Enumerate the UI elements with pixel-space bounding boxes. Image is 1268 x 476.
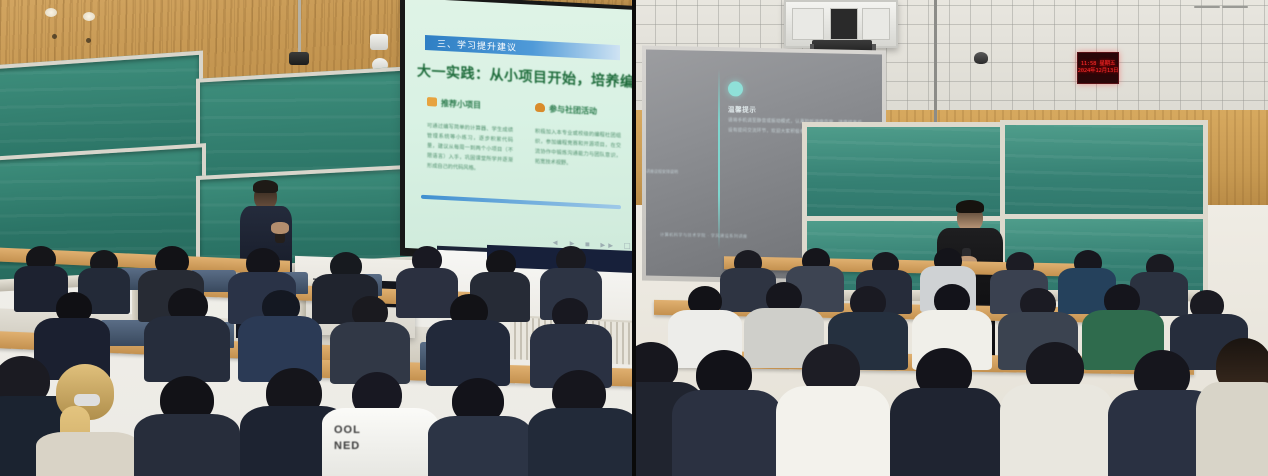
left-photo: 三、学习提升建议 大一实践：从小项目开始，培养编程思维 推荐小项目 可通过编写简… [0, 0, 634, 476]
audience-body [672, 390, 782, 476]
audience-body [144, 316, 230, 382]
ceiling-fan [1194, 2, 1250, 12]
people-icon [535, 103, 545, 113]
led-line-2: 2024年12月13日 [1078, 68, 1119, 75]
hoodie-text-line-1: OOL [334, 424, 361, 436]
speaker-hair [956, 200, 984, 213]
panel-screw [52, 34, 57, 39]
led-date-time-display: 11:58 星期五 2024年12月13日 [1077, 52, 1119, 84]
slide-section-label: 三、学习提升建议 [437, 37, 517, 54]
projection-screen: 三、学习提升建议 大一实践：从小项目开始，培养编程思维 推荐小项目 可通过编写简… [405, 0, 634, 260]
audience-body [36, 432, 140, 476]
slide-column: 推荐小项目 可通过编写简单的计算器、学生成绩管理系统等小练习，逐步积累代码量，建… [427, 97, 513, 176]
speaker-hair [253, 180, 278, 193]
speaker-hand [271, 222, 289, 234]
cage-panel [792, 8, 824, 40]
hoodie-text-line-2: NED [334, 440, 360, 452]
audience-body [1196, 382, 1268, 476]
audience-body [396, 268, 458, 318]
slide-accent-bar [421, 195, 621, 209]
slide-side-note: 讲座议程安排说明 [646, 168, 708, 177]
audience-left: OOL NED [0, 246, 634, 476]
right-photo: 11:58 星期五 2024年12月13日 温馨提示 请将手机调至静音或振动模式… [634, 0, 1268, 476]
audience-right [634, 246, 1268, 476]
audience-body [890, 388, 1002, 476]
ceiling-light [45, 8, 57, 17]
hanging-projector-lamp [289, 52, 309, 65]
slide-column-heading: 推荐小项目 [441, 98, 513, 113]
dome-camera-icon [974, 52, 988, 64]
ceiling-light [83, 12, 95, 21]
panel-screw [86, 38, 91, 43]
audience-body [134, 414, 240, 476]
led-line-1: 11:58 星期五 [1081, 61, 1116, 68]
audience-body [776, 386, 890, 476]
audience-body [426, 320, 510, 386]
slide-heading: 温馨提示 [728, 103, 756, 114]
slide-bullet-icon [728, 81, 743, 96]
cage-panel [862, 8, 890, 40]
face-mask [74, 394, 100, 406]
cage-opening [830, 8, 858, 40]
chalkboard-panel [1000, 120, 1208, 226]
audience-body [1000, 384, 1114, 476]
slide-divider-line [718, 69, 720, 249]
audience-body [528, 408, 634, 476]
audience-body: OOL NED [322, 408, 438, 476]
slide-column-body: 积极加入本专业或校级的编程社团组织，参加编程竞赛和开源项目，在交流协作中锻炼沟通… [535, 128, 621, 172]
slide-column: 参与社团活动 积极加入本专业或校级的编程社团组织，参加编程竞赛和开源项目，在交流… [535, 103, 621, 172]
slide-column-heading: 参与社团活动 [549, 103, 621, 118]
folder-icon [427, 97, 437, 107]
photo-divider [632, 0, 636, 476]
slide-title: 大一实践：从小项目开始，培养编程思维 [417, 61, 634, 93]
slide-section-banner: 三、学习提升建议 [425, 35, 620, 60]
photo-composite: 三、学习提升建议 大一实践：从小项目开始，培养编程思维 推荐小项目 可通过编写简… [0, 0, 1268, 476]
audience-body [428, 416, 532, 476]
hanging-rod [298, 0, 301, 58]
wall-speaker [370, 34, 388, 50]
slide-column-body: 可通过编写简单的计算器、学生成绩管理系统等小练习，逐步积累代码量，建议从每周一到… [427, 122, 513, 176]
